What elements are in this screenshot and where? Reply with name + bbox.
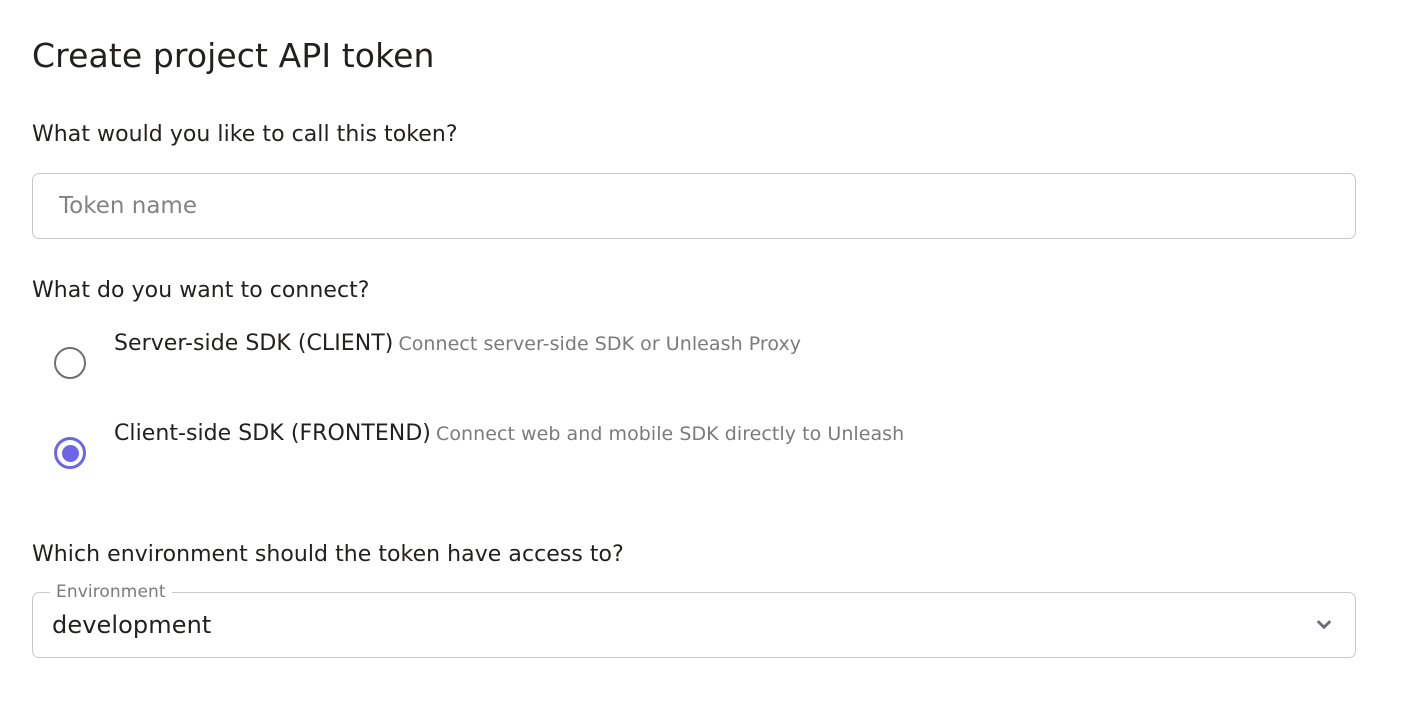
token-type-radio-group: Server-side SDK (CLIENT) Connect server-… (32, 326, 1356, 490)
chevron-down-icon[interactable] (1308, 609, 1340, 641)
radio-description: Connect server-side SDK or Unleash Proxy (398, 333, 801, 355)
radio-button-frontend-sdk[interactable] (48, 431, 92, 475)
connect-question-label: What do you want to connect? (32, 276, 370, 306)
radio-label-frontend-sdk: Client-side SDK (FRONTEND) Connect web a… (92, 416, 1356, 450)
radio-description: Connect web and mobile SDK directly to U… (436, 423, 904, 445)
radio-ring-icon (54, 347, 86, 379)
radio-dot-icon (62, 445, 79, 462)
radio-option-client-sdk[interactable]: Server-side SDK (CLIENT) Connect server-… (32, 326, 1356, 400)
radio-title: Server-side SDK (CLIENT) (114, 331, 393, 356)
token-name-input[interactable] (32, 173, 1356, 239)
radio-label-client-sdk: Server-side SDK (CLIENT) Connect server-… (92, 326, 1356, 360)
environment-select-value: development (52, 592, 1286, 658)
radio-button-client-sdk[interactable] (48, 341, 92, 385)
environment-question-label: Which environment should the token have … (32, 540, 624, 570)
token-name-field-wrapper (32, 173, 1356, 239)
environment-select[interactable]: Environment development (32, 592, 1356, 658)
radio-title: Client-side SDK (FRONTEND) (114, 421, 431, 446)
token-name-question-label: What would you like to call this token? (32, 120, 458, 150)
page-title: Create project API token (32, 34, 435, 78)
create-api-token-form: Create project API token What would you … (0, 0, 1404, 716)
radio-option-frontend-sdk[interactable]: Client-side SDK (FRONTEND) Connect web a… (32, 416, 1356, 490)
